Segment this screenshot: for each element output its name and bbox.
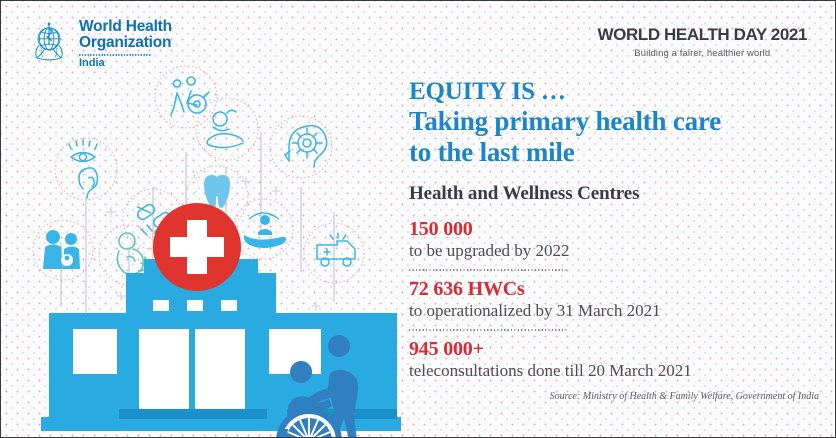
who-logo-line2: Organization bbox=[79, 35, 172, 51]
stat-item: 72 636 HWCs to operationalized by 31 Mar… bbox=[409, 278, 821, 321]
world-health-day-header: WORLD HEALTH DAY 2021 Building a fairer,… bbox=[598, 25, 808, 59]
headline-line-1: EQUITY IS … bbox=[409, 77, 821, 106]
main-content: EQUITY IS … Taking primary health care t… bbox=[409, 77, 821, 402]
subheading: Health and Wellness Centres bbox=[409, 183, 821, 205]
red-medical-cross-badge bbox=[153, 203, 241, 291]
stat-value: 72 636 HWCs bbox=[409, 278, 821, 300]
stat-item: 945 000+ teleconsultations done till 20 … bbox=[409, 338, 821, 381]
world-health-day-title: WORLD HEALTH DAY 2021 bbox=[598, 25, 808, 45]
health-centre-illustration bbox=[1, 57, 401, 438]
stat-separator bbox=[409, 269, 569, 271]
stat-label: to operationalized by 31 March 2021 bbox=[409, 301, 821, 321]
world-health-day-tagline: Building a fairer, healthier world bbox=[598, 48, 808, 59]
stat-item: 150 000 to be upgraded by 2022 bbox=[409, 218, 821, 261]
statistics-list: 150 000 to be upgraded by 2022 72 636 HW… bbox=[409, 218, 821, 382]
stat-value: 150 000 bbox=[409, 218, 821, 240]
stat-label: teleconsultations done till 20 March 202… bbox=[409, 361, 821, 381]
caring-hands-person-icon bbox=[233, 199, 293, 259]
eye-and-ear-care-icon bbox=[55, 138, 117, 200]
infographic-poster: World Health Organization India WORLD HE… bbox=[0, 0, 836, 438]
mental-health-brain-icon bbox=[270, 116, 332, 178]
who-logo-line1: World Health bbox=[79, 19, 172, 35]
headline-line-3: to the last mile bbox=[409, 137, 821, 168]
mother-and-child-icon bbox=[33, 220, 93, 280]
stat-value: 945 000+ bbox=[409, 338, 821, 360]
stat-separator bbox=[409, 329, 569, 331]
wheelchair-assistance-icon bbox=[155, 66, 217, 128]
who-logo-divider bbox=[79, 54, 151, 56]
headline-line-2: Taking primary health care bbox=[409, 106, 821, 137]
headline: EQUITY IS … Taking primary health care t… bbox=[409, 77, 821, 169]
source-credit: Source: Ministry of Health & Family Welf… bbox=[409, 391, 821, 402]
stat-label: to be upgraded by 2022 bbox=[409, 241, 821, 261]
